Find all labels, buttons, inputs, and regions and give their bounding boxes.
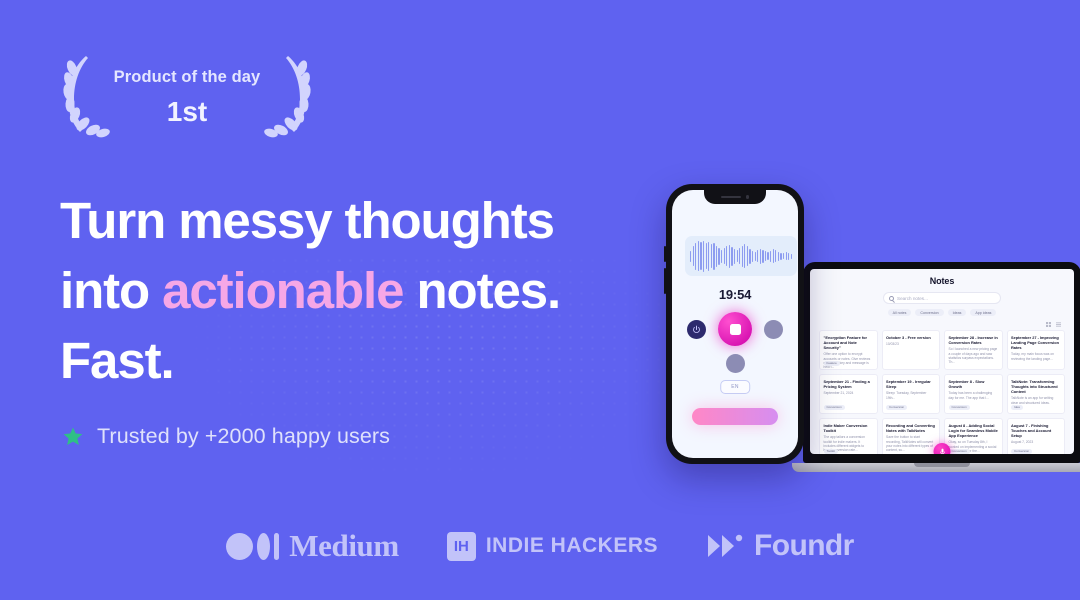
phone-speaker <box>721 196 741 199</box>
note-card-title: Recording and Converting Notes with Talk… <box>886 423 936 433</box>
note-card[interactable]: August 7 - Finishing Touches and Account… <box>1007 418 1066 454</box>
phone-volume-up-button[interactable] <box>664 246 666 262</box>
phone-cta-button[interactable] <box>692 408 778 425</box>
laptop-mockup: Notes Search notes... All notes Conversi… <box>803 262 1080 472</box>
device-mockups: Notes Search notes... All notes Conversi… <box>648 176 1078 476</box>
award-badge: Product of the day 1st <box>52 46 322 150</box>
note-card[interactable]: Indie Maker Conversion Toolkit The app t… <box>819 418 878 454</box>
note-card-tag: Conversion <box>824 405 845 411</box>
recording-controls-secondary <box>672 354 798 373</box>
note-card[interactable]: September 28 - Increase in Conversion Ra… <box>944 330 1003 370</box>
note-card-title: September 28 - Increase in Conversion Ra… <box>949 335 999 345</box>
waveform-panel <box>685 236 797 276</box>
note-card-body: So I launched a new pricing page a coupl… <box>949 347 999 365</box>
note-card-body: TalkNote is an app for writing clear and… <box>1011 396 1061 405</box>
note-card-body: August 7, 2023 <box>1011 440 1061 444</box>
note-card-title: "Encryption Feature for Account and Note… <box>824 335 874 350</box>
note-card-title: August 7 - Finishing Touches and Account… <box>1011 423 1061 438</box>
filter-chip-row: All notes Conversion Ideas App ideas <box>819 309 1065 316</box>
headline-line-2-before: into <box>60 262 162 319</box>
stop-square-icon <box>730 324 741 335</box>
note-card-title: September 21 - Finding a Pricing System <box>824 379 874 389</box>
note-card[interactable]: "Encryption Feature for Account and Note… <box>819 330 878 370</box>
headline-line-3: Fast. <box>60 332 174 389</box>
note-card-title: August 8 - Adding Social Login for Seaml… <box>949 423 999 438</box>
logo-foundr: Foundr <box>706 529 854 563</box>
note-card-tag: Conversion <box>949 449 970 454</box>
note-card-body: Today, my main focus was on reviewing th… <box>1011 352 1061 361</box>
secondary-control-right[interactable] <box>764 320 783 339</box>
indie-hackers-logo-icon: IH <box>447 532 476 561</box>
note-card-title: September 27 - Improving Landing Page Co… <box>1011 335 1061 350</box>
note-card-tag: Feature <box>824 361 840 367</box>
note-card[interactable]: September 8 - Slow Growth Today has been… <box>944 374 1003 414</box>
filter-chip-app-ideas[interactable]: App ideas <box>970 309 996 316</box>
note-card-tag: Conversion <box>886 405 907 411</box>
filter-chip-ideas[interactable]: Ideas <box>948 309 967 316</box>
note-card-title: TalkNote: Transforming Thoughts into Str… <box>1011 379 1061 394</box>
laurel-wreath-right-icon <box>262 52 318 138</box>
star-icon <box>62 426 84 448</box>
filter-chip-all-notes[interactable]: All notes <box>888 309 912 316</box>
trust-text: Trusted by +2000 happy users <box>97 424 390 449</box>
microphone-icon <box>938 448 946 455</box>
note-card[interactable]: TalkNote: Transforming Thoughts into Str… <box>1007 374 1066 414</box>
record-stop-button[interactable] <box>718 312 752 346</box>
notes-app: Notes Search notes... All notes Conversi… <box>810 269 1074 454</box>
award-title: Product of the day <box>114 68 261 87</box>
search-icon <box>889 296 894 301</box>
phone-screen: 19:54 EN <box>672 190 798 458</box>
search-placeholder: Search notes... <box>897 296 928 301</box>
note-card-title: September 8 - Slow Growth <box>949 379 999 389</box>
headline-line-2-after: notes. <box>403 262 560 319</box>
search-input[interactable]: Search notes... <box>883 292 1001 304</box>
recording-controls <box>672 312 798 346</box>
phone-volume-down-button[interactable] <box>664 268 666 294</box>
medium-logo-icon <box>226 533 279 560</box>
power-icon[interactable] <box>687 320 706 339</box>
notes-toolbar <box>819 322 1065 327</box>
note-card[interactable]: Recording and Converting Notes with Talk… <box>882 418 941 454</box>
notes-grid: "Encryption Feature for Account and Note… <box>819 330 1065 454</box>
list-view-icon[interactable] <box>1056 322 1061 327</box>
notes-app-title: Notes <box>819 276 1065 286</box>
note-card-title: Indie Maker Conversion Toolkit <box>824 423 874 433</box>
phone-notch <box>704 190 766 204</box>
recording-timer: 19:54 <box>672 287 798 302</box>
note-card[interactable]: October 3 - Free version 10/03/23 <box>882 330 941 370</box>
note-card-tag: Conversion <box>1011 449 1032 454</box>
logo-medium-label: Medium <box>289 528 399 564</box>
note-card-title: September 19 - Irregular Sleep <box>886 379 936 389</box>
logo-bar: Medium IH INDIE HACKERS Foundr <box>0 528 1080 564</box>
laurel-wreath-left-icon <box>56 52 112 138</box>
page-title: Turn messy thoughts into actionable note… <box>60 186 660 396</box>
note-card-body: Save the button to start recording, Talk… <box>886 435 936 453</box>
logo-foundr-label: Foundr <box>754 529 854 563</box>
note-card-tag: Conversion <box>949 405 970 411</box>
headline-line-1: Turn messy thoughts <box>60 192 554 249</box>
filter-chip-conversion[interactable]: Conversion <box>915 309 943 316</box>
logo-medium: Medium <box>226 528 399 564</box>
laptop-base-notch <box>914 463 970 467</box>
logo-indie-hackers: IH INDIE HACKERS <box>447 532 658 561</box>
note-card-body: Today has been a challenging day for me.… <box>949 391 999 400</box>
trust-row: Trusted by +2000 happy users <box>62 424 390 449</box>
record-fab-button[interactable] <box>934 443 951 454</box>
note-card-tag: Toolkit <box>824 449 839 454</box>
note-card-title: October 3 - Free version <box>886 335 936 340</box>
foundr-logo-icon <box>706 532 744 560</box>
headline-accent-word: actionable <box>162 262 403 319</box>
note-card-body: 10/03/23 <box>886 342 936 346</box>
phone-camera <box>746 195 750 199</box>
secondary-control-bottom[interactable] <box>726 354 745 373</box>
logo-indie-hackers-label: INDIE HACKERS <box>486 534 658 558</box>
laptop-base <box>792 463 1080 472</box>
note-card-body: September 21, 2024 <box>824 391 874 395</box>
phone-mockup: 19:54 EN <box>666 184 804 464</box>
note-card[interactable]: September 21 - Finding a Pricing System … <box>819 374 878 414</box>
award-rank: 1st <box>114 96 261 128</box>
note-card[interactable]: September 27 - Improving Landing Page Co… <box>1007 330 1066 370</box>
grid-view-icon[interactable] <box>1046 322 1051 327</box>
note-card[interactable]: September 19 - Irregular Sleep Sleep: Tu… <box>882 374 941 414</box>
note-card[interactable]: August 8 - Adding Social Login for Seaml… <box>944 418 1003 454</box>
laptop-lid: Notes Search notes... All notes Conversi… <box>803 262 1080 463</box>
power-glyph-icon <box>692 325 701 334</box>
note-card-tag: Idea <box>1011 405 1023 411</box>
laptop-screen: Notes Search notes... All notes Conversi… <box>810 269 1074 454</box>
language-chip[interactable]: EN <box>720 380 750 394</box>
note-card-body: Sleep: Tuesday, September 19th... <box>886 391 936 400</box>
